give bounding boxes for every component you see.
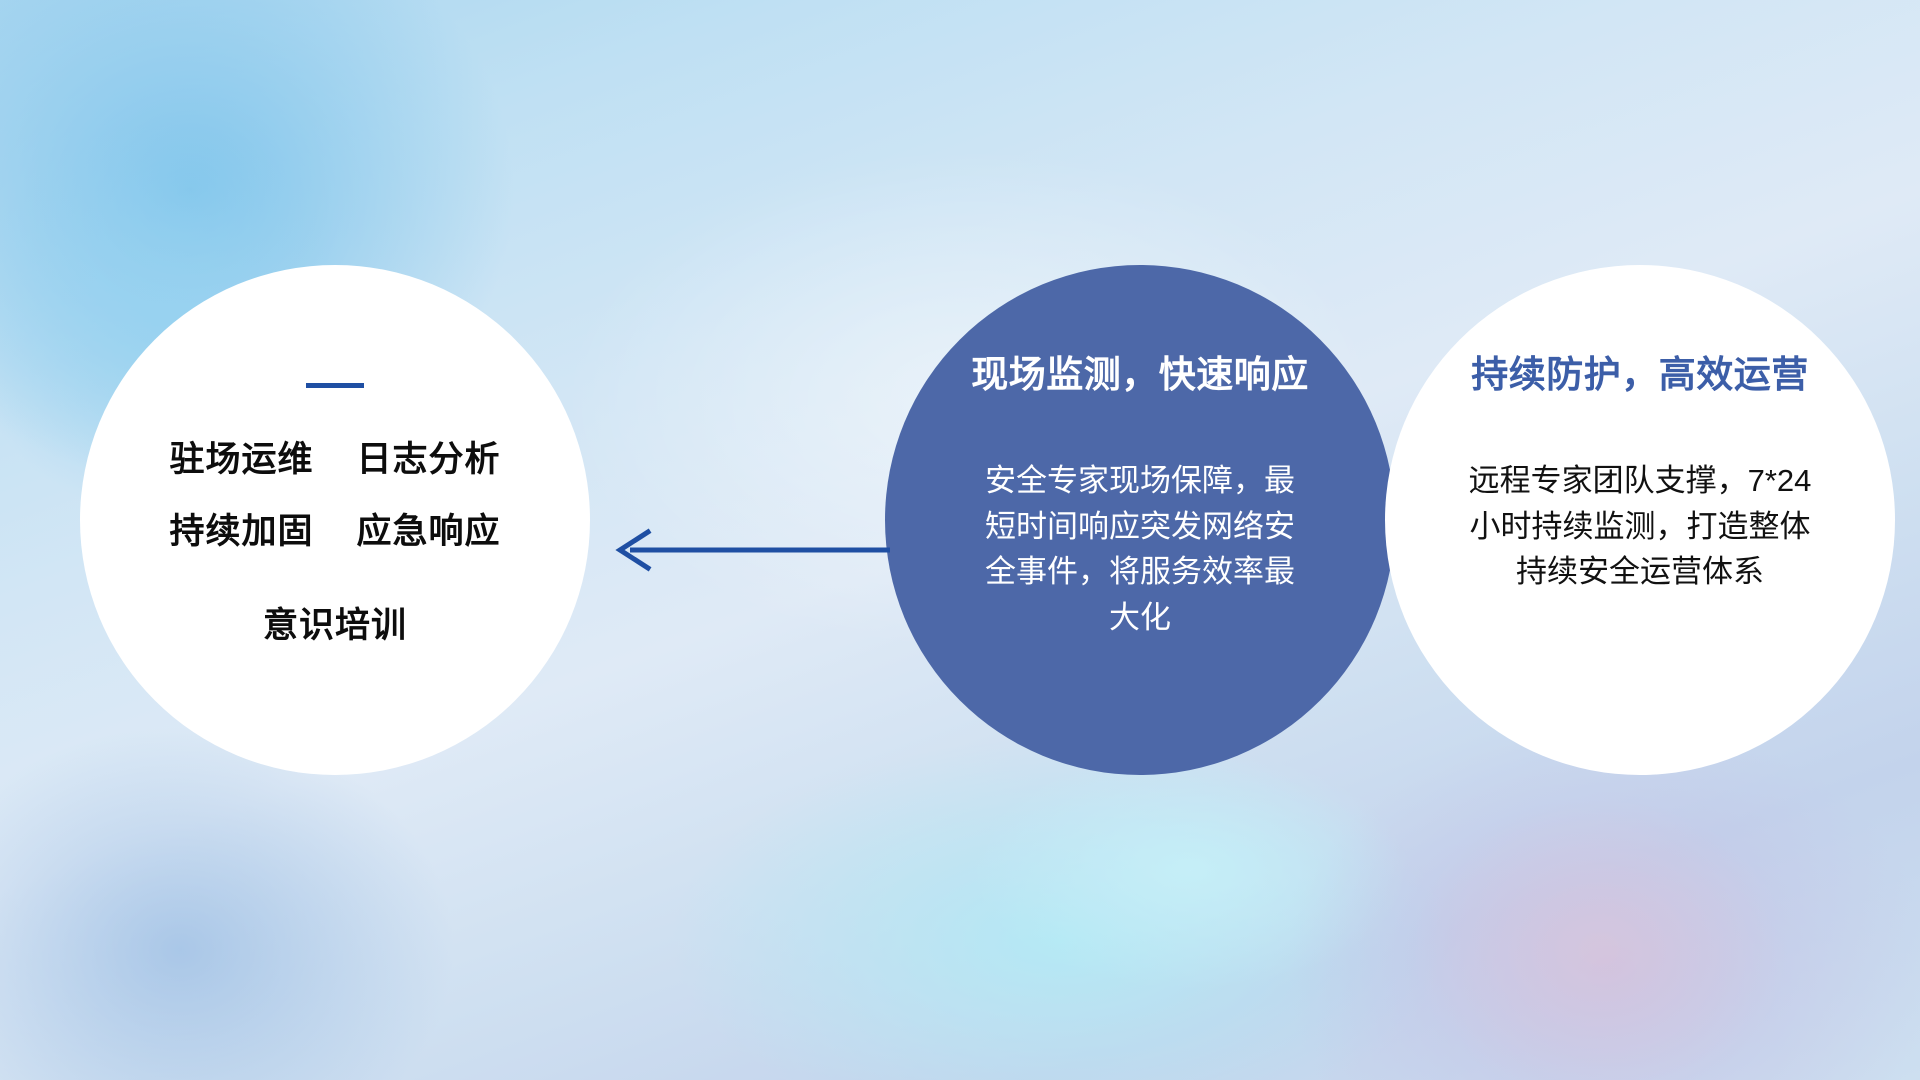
- left-circle-line-1: 驻场运维 日志分析: [170, 442, 501, 477]
- left-circle-line-3: 意识培训: [263, 608, 407, 643]
- slide-canvas: 驻场运维 日志分析 持续加固 应急响应 意识培训 现场监测，快速响应 安全专家现…: [0, 0, 1920, 1080]
- left-circle-line-2: 持续加固 应急响应: [170, 514, 501, 549]
- middle-circle-card[interactable]: 现场监测，快速响应 安全专家现场保障，最短时间响应突发网络安全事件，将服务效率最…: [885, 265, 1395, 775]
- left-arrow-icon: [600, 510, 900, 590]
- left-circle-card[interactable]: 驻场运维 日志分析 持续加固 应急响应 意识培训: [80, 265, 590, 775]
- divider-dash-icon: [306, 383, 364, 388]
- right-circle-title: 持续防护，高效运营: [1471, 355, 1809, 396]
- right-circle-card[interactable]: 持续防护，高效运营 远程专家团队支撑，7*24小时持续监测，打造整体持续安全运营…: [1385, 265, 1895, 775]
- right-circle-body: 远程专家团队支撑，7*24小时持续监测，打造整体持续安全运营体系: [1460, 458, 1820, 596]
- middle-circle-body: 安全专家现场保障，最短时间响应突发网络安全事件，将服务效率最大化: [975, 458, 1305, 642]
- middle-circle-title: 现场监测，快速响应: [971, 355, 1309, 396]
